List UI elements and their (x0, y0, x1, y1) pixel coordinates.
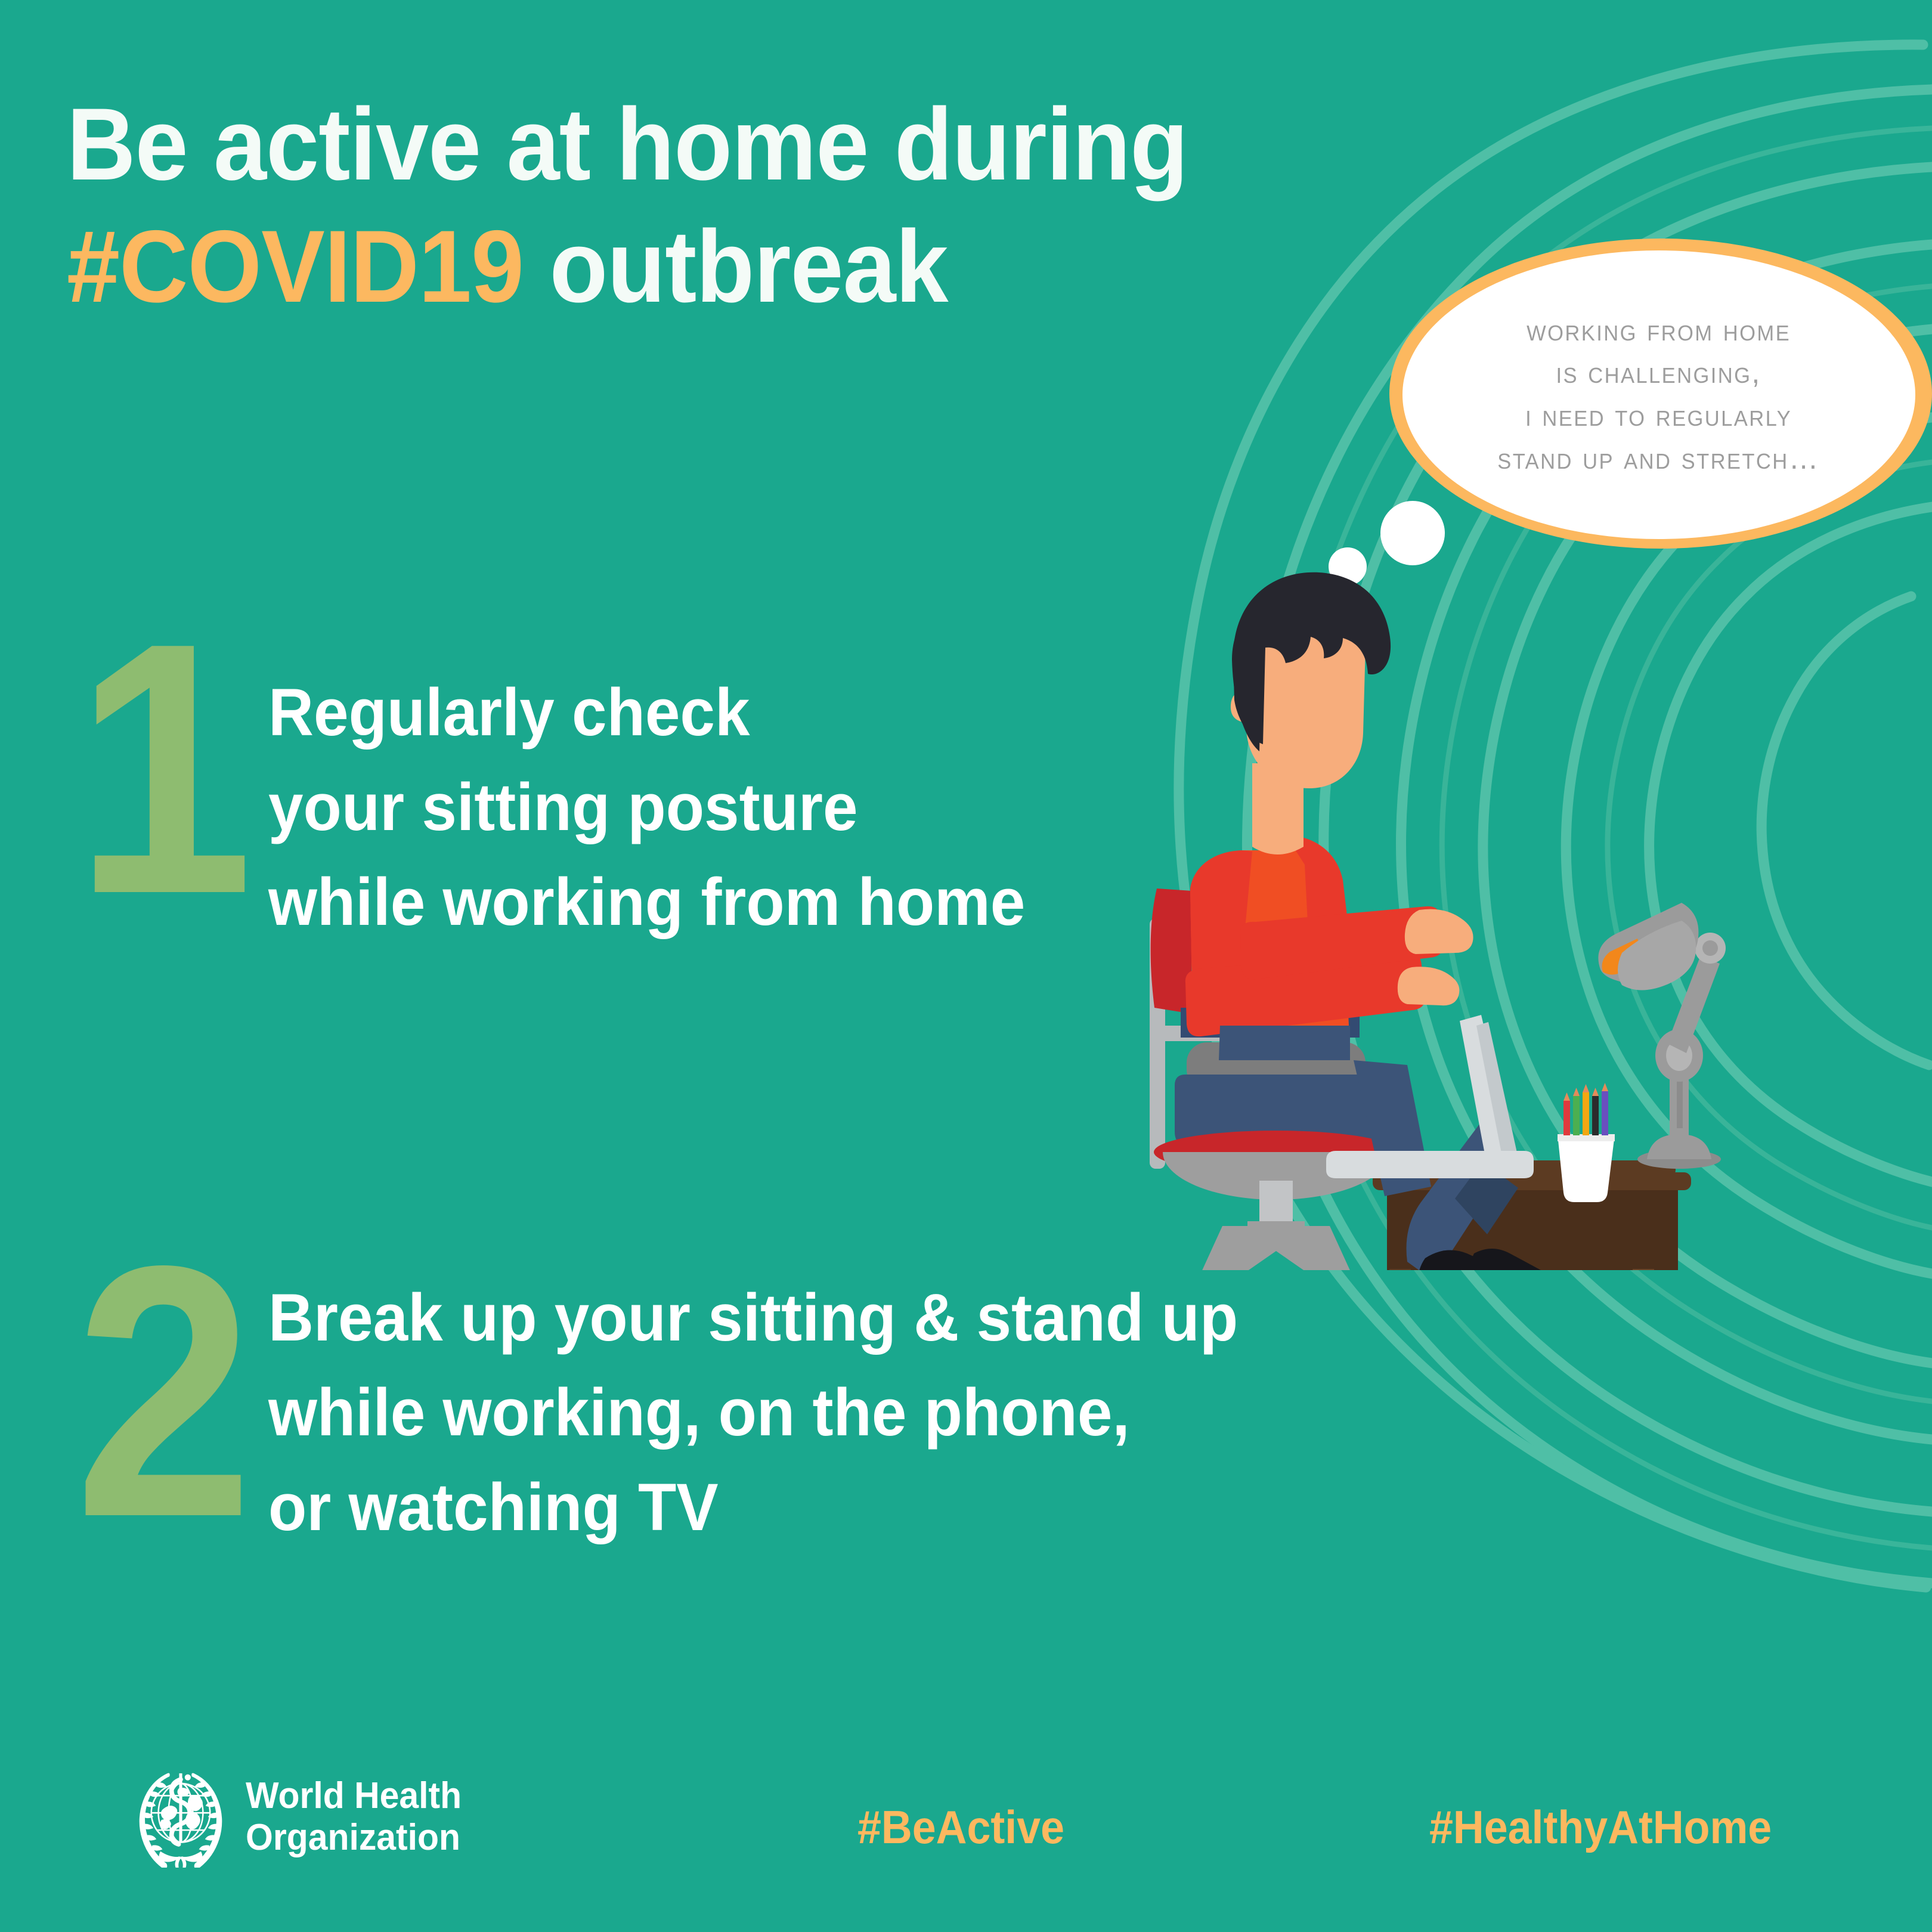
tip-1: 1 Regularly check your sitting posture w… (60, 629, 1073, 949)
thought-bubble-text: Working from home is challenging, I need… (1475, 309, 1843, 481)
pencil-green-tip (1573, 1088, 1580, 1096)
person-waist (1219, 1026, 1350, 1060)
tip-2-text: Break up your sitting & stand up while w… (268, 1252, 1300, 1555)
chair-base-hub (1247, 1221, 1305, 1245)
who-line-1: World Health (246, 1775, 462, 1817)
thought-bubble: Working from home is challenging, I need… (1389, 239, 1932, 549)
tip-2: 2 Break up your sitting & stand up while… (60, 1252, 1300, 1555)
pencil-orange (1583, 1092, 1589, 1135)
person-hand-lower (1398, 967, 1460, 1005)
desk-leg-left (1389, 1269, 1411, 1270)
pencil-red-tip (1563, 1092, 1570, 1101)
pencil-black-tip (1592, 1088, 1599, 1096)
lamp-lower-arm-slot (1677, 1079, 1683, 1128)
headline-covid-hashtag: #COVID19 (67, 209, 524, 324)
thought-bubble-body: Working from home is challenging, I need… (1402, 250, 1915, 539)
pencil-green (1573, 1096, 1580, 1135)
headline-outbreak-text: outbreak (524, 209, 948, 324)
pencil-black (1592, 1096, 1599, 1135)
infographic-poster: Be active at home during #COVID19 outbre… (0, 0, 1932, 1932)
who-logo: World Health Organization (130, 1766, 473, 1868)
pencil-cup (1558, 1134, 1615, 1202)
footer: World Health Organization #BeActive #Hea… (0, 1735, 1932, 1932)
pencil-orange-tip (1583, 1084, 1589, 1092)
who-wordmark: World Health Organization (246, 1775, 462, 1859)
lamp-joint-upper-inner (1702, 940, 1718, 956)
laptop-base (1326, 1151, 1534, 1178)
person-at-desk-illustration (1073, 555, 1741, 1270)
tip-2-number: 2 (70, 1252, 258, 1531)
who-line-2: Organization (246, 1817, 462, 1859)
pencil-purple (1602, 1091, 1608, 1135)
pencil-purple-tip (1602, 1083, 1608, 1091)
who-emblem-icon (130, 1766, 231, 1868)
tip-1-text: Regularly check your sitting posture whi… (268, 629, 1073, 949)
tip-1-line-3: while working from home (268, 854, 1025, 949)
tip-2-line-3: or watching TV (268, 1460, 1238, 1555)
colored-pencils (1563, 1083, 1608, 1135)
hashtag-beactive[interactable]: #BeActive (857, 1800, 1064, 1854)
tip-1-line-1: Regularly check (268, 665, 1025, 760)
hashtag-healthyathome[interactable]: #HealthyAtHome (1429, 1800, 1772, 1854)
pencil-red (1563, 1101, 1570, 1135)
tip-1-line-2: your sitting posture (268, 760, 1025, 854)
bubble-line-3: I need to regularly (1498, 395, 1820, 438)
bubble-line-4: stand up and stretch… (1498, 438, 1820, 481)
headline-line-1: Be active at home during (67, 83, 1231, 206)
bubble-line-1: Working from home (1498, 309, 1820, 352)
tip-1-number: 1 (70, 629, 258, 908)
desk-leg-right (1633, 1269, 1654, 1270)
person-hand-upper (1405, 909, 1473, 954)
page-title: Be active at home during #COVID19 outbre… (67, 83, 1319, 327)
bubble-line-2: is challenging, (1498, 352, 1820, 395)
tip-2-line-2: while working, on the phone, (268, 1365, 1238, 1460)
headline-line-2: #COVID19 outbreak (67, 206, 1231, 328)
tip-2-line-1: Break up your sitting & stand up (268, 1270, 1238, 1365)
